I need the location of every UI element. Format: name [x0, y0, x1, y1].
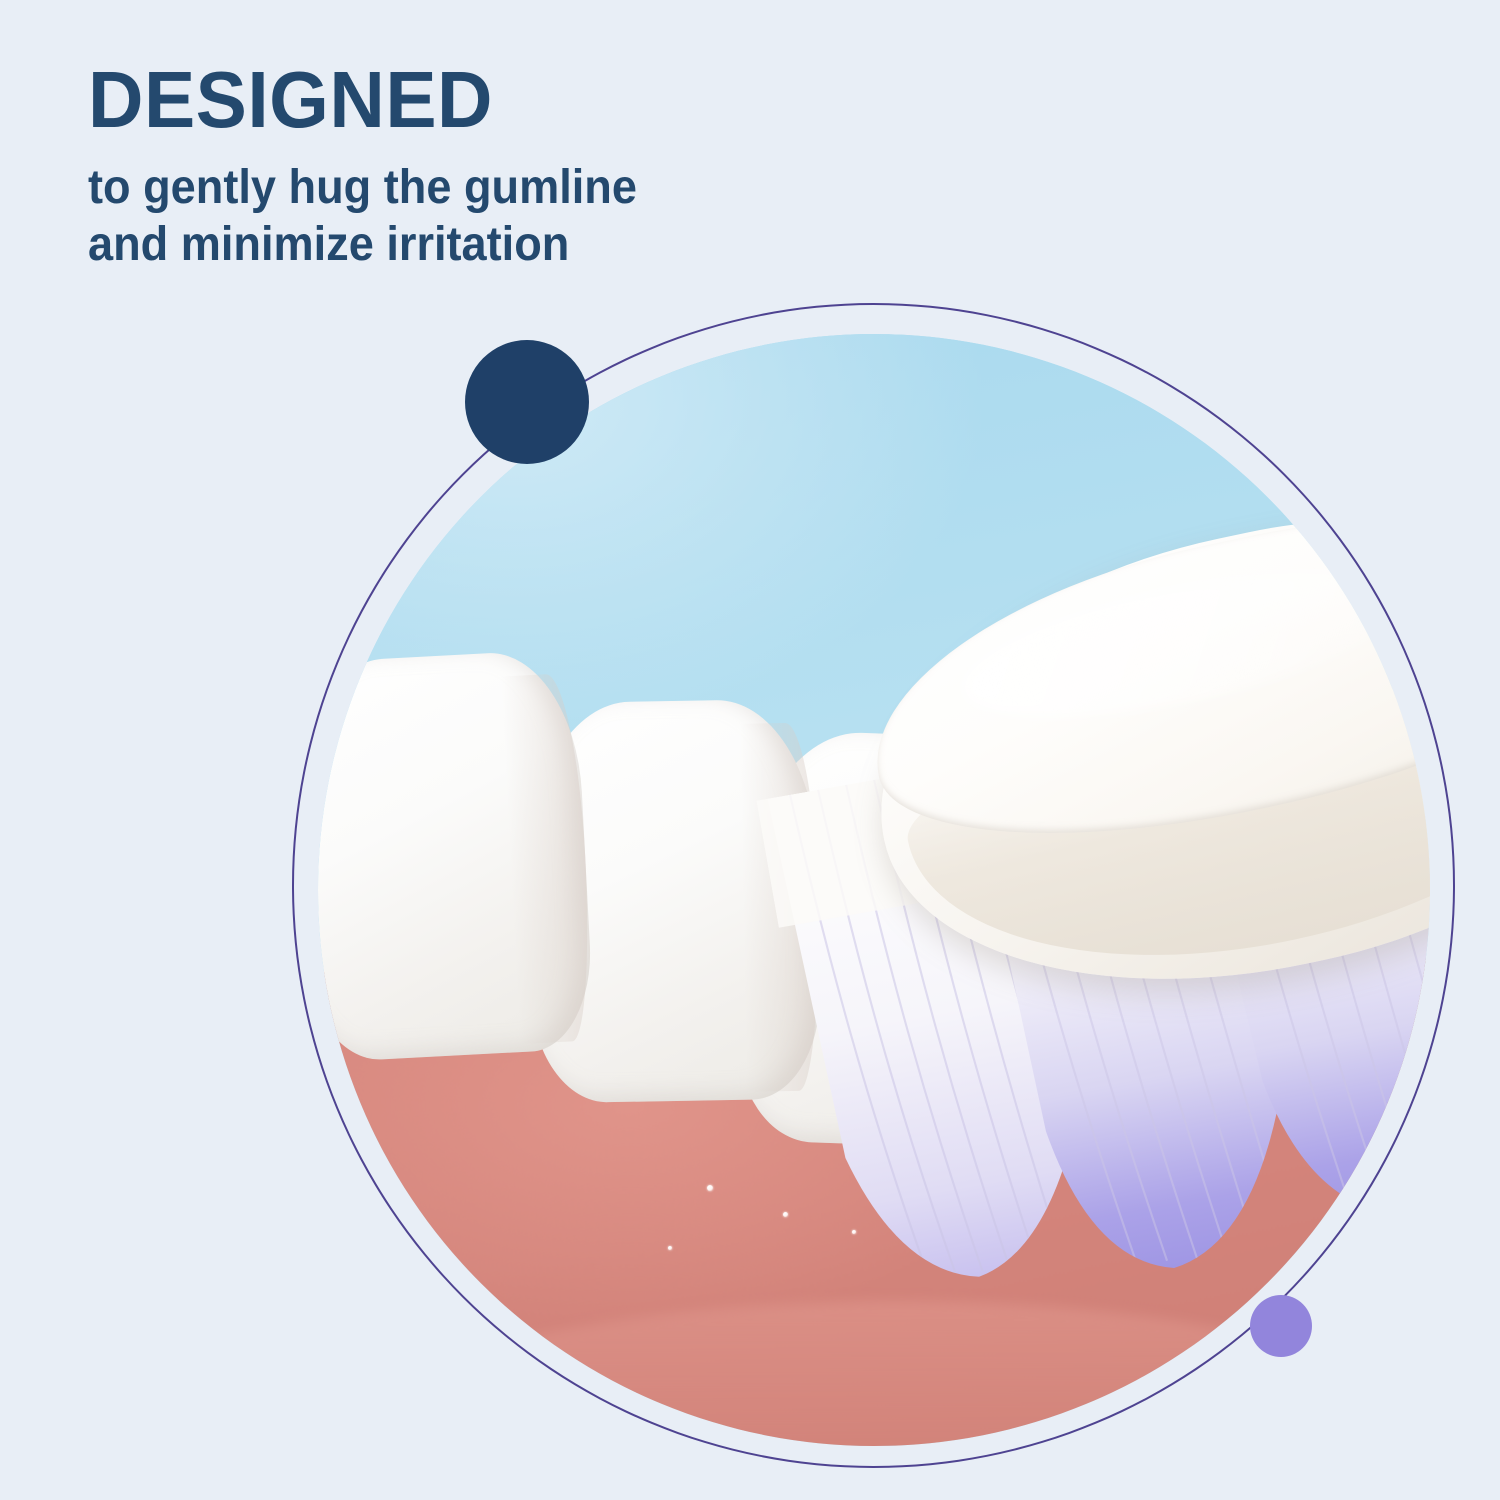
page-subtitle: to gently hug the gumline and minimize i… — [88, 160, 859, 273]
navy-accent-dot — [465, 340, 589, 464]
product-illustration-circle — [318, 334, 1430, 1446]
illustration-canvas — [318, 334, 1430, 1446]
page-title: DESIGNED — [88, 62, 875, 138]
gum-bubble — [707, 1185, 713, 1191]
tooth — [318, 649, 595, 1064]
headline-block: DESIGNED to gently hug the gumline and m… — [88, 62, 908, 273]
purple-accent-dot — [1250, 1295, 1312, 1357]
